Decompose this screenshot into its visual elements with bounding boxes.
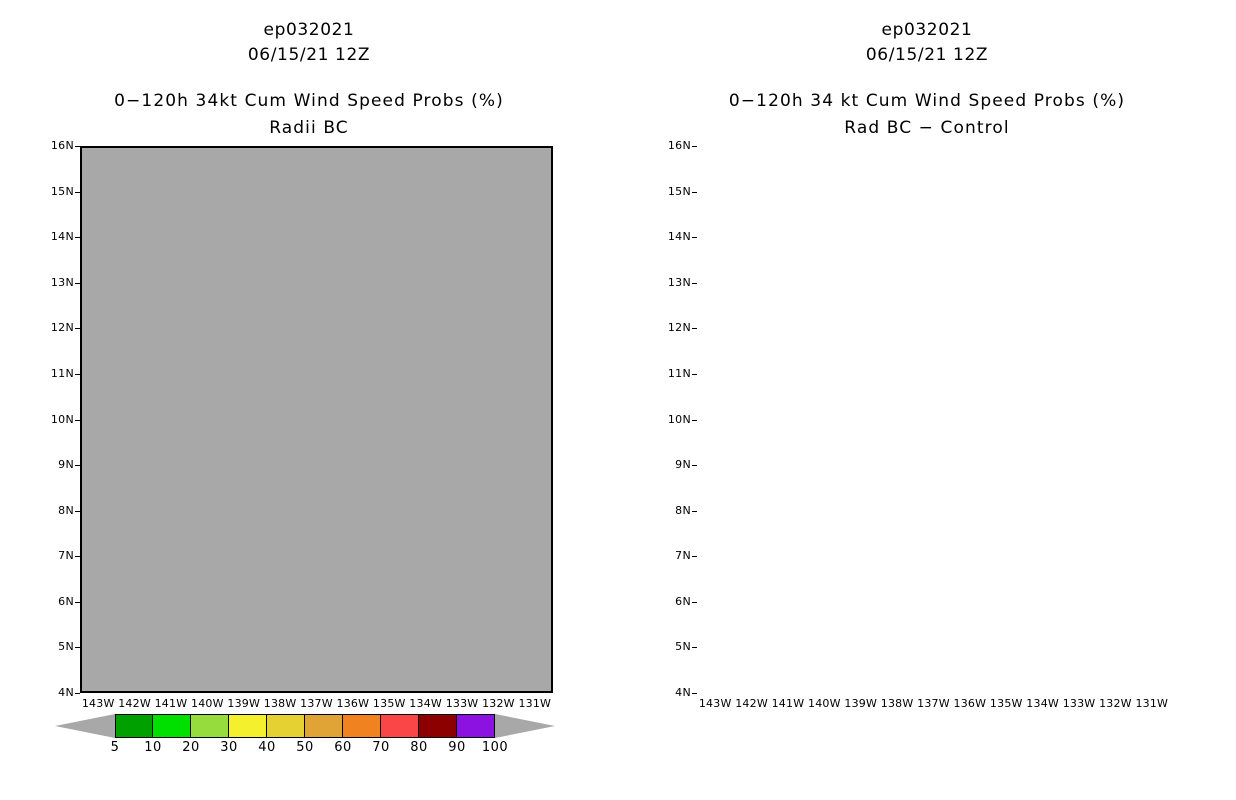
y-axis-tick-10N: 10N xyxy=(36,413,74,426)
y-axis-tick-15N: 15N xyxy=(36,185,74,198)
y-tick-mark-7N xyxy=(75,556,80,557)
right-panel-header: ep032021 06/15/21 12Z xyxy=(618,18,1236,68)
left-colorbar-segment-7[interactable] xyxy=(381,714,419,738)
y-tick-mark-6N xyxy=(692,602,697,603)
y-axis-tick-6N: 6N xyxy=(36,595,74,608)
y-tick-mark-15N xyxy=(692,192,697,193)
y-tick-mark-12N xyxy=(692,328,697,329)
y-tick-mark-14N xyxy=(692,237,697,238)
y-tick-mark-11N xyxy=(75,374,80,375)
left-colorbar-segment-6[interactable] xyxy=(343,714,381,738)
panel-right: ep032021 06/15/21 12Z 0−120h 34 kt Cum W… xyxy=(618,0,1236,800)
y-tick-mark-16N xyxy=(75,146,80,147)
y-axis-tick-14N: 14N xyxy=(36,230,74,243)
y-axis-tick-6N: 6N xyxy=(653,595,691,608)
left-plot-frame xyxy=(80,146,553,693)
right-storm-id: ep032021 xyxy=(618,18,1236,43)
y-axis-tick-13N: 13N xyxy=(653,276,691,289)
left-panel-subheader: 0−120h 34kt Cum Wind Speed Probs (%) Rad… xyxy=(0,88,618,142)
y-axis-tick-7N: 7N xyxy=(653,549,691,562)
panel-left: ep032021 06/15/21 12Z 0−120h 34kt Cum Wi… xyxy=(0,0,618,800)
y-tick-mark-7N xyxy=(692,556,697,557)
y-tick-mark-13N xyxy=(75,283,80,284)
left-colorbar-cap-high xyxy=(495,714,555,738)
y-axis-tick-12N: 12N xyxy=(36,321,74,334)
y-axis-tick-11N: 11N xyxy=(653,367,691,380)
y-axis-tick-10N: 10N xyxy=(653,413,691,426)
y-axis-tick-16N: 16N xyxy=(653,139,691,152)
y-axis-tick-9N: 9N xyxy=(36,458,74,471)
x-axis-tick-131W: 131W xyxy=(1127,697,1177,710)
y-tick-mark-4N xyxy=(75,693,80,694)
y-axis-tick-11N: 11N xyxy=(36,367,74,380)
left-colorbar-segment-5[interactable] xyxy=(305,714,343,738)
y-tick-mark-10N xyxy=(75,420,80,421)
y-axis-tick-8N: 8N xyxy=(653,504,691,517)
left-plot-gray-fill xyxy=(82,148,551,691)
y-axis-tick-12N: 12N xyxy=(653,321,691,334)
y-tick-mark-11N xyxy=(692,374,697,375)
left-chart-title: 0−120h 34kt Cum Wind Speed Probs (%) xyxy=(0,88,618,115)
y-tick-mark-14N xyxy=(75,237,80,238)
y-axis-tick-7N: 7N xyxy=(36,549,74,562)
right-chart-subtitle: Rad BC − Control xyxy=(618,115,1236,142)
y-tick-mark-6N xyxy=(75,602,80,603)
y-tick-mark-4N xyxy=(692,693,697,694)
left-datetime: 06/15/21 12Z xyxy=(0,43,618,68)
y-axis-tick-4N: 4N xyxy=(653,686,691,699)
left-colorbar-bands[interactable] xyxy=(115,714,495,738)
y-axis-tick-13N: 13N xyxy=(36,276,74,289)
y-tick-mark-9N xyxy=(75,465,80,466)
y-tick-mark-5N xyxy=(75,647,80,648)
y-tick-mark-5N xyxy=(692,647,697,648)
right-panel-subheader: 0−120h 34 kt Cum Wind Speed Probs (%) Ra… xyxy=(618,88,1236,142)
left-colorbar-tick-10: 100 xyxy=(470,740,520,755)
y-tick-mark-10N xyxy=(692,420,697,421)
y-tick-mark-8N xyxy=(692,511,697,512)
y-axis-tick-5N: 5N xyxy=(653,640,691,653)
right-chart-title: 0−120h 34 kt Cum Wind Speed Probs (%) xyxy=(618,88,1236,115)
left-colorbar-segment-1[interactable] xyxy=(153,714,191,738)
y-axis-tick-4N: 4N xyxy=(36,686,74,699)
x-axis-tick-131W: 131W xyxy=(510,697,560,710)
left-storm-id: ep032021 xyxy=(0,18,618,43)
right-datetime: 06/15/21 12Z xyxy=(618,43,1236,68)
y-axis-tick-16N: 16N xyxy=(36,139,74,152)
left-colorbar-segment-4[interactable] xyxy=(267,714,305,738)
left-plot-area xyxy=(80,146,553,693)
left-colorbar-segment-2[interactable] xyxy=(191,714,229,738)
y-tick-mark-12N xyxy=(75,328,80,329)
left-colorbar-segment-9[interactable] xyxy=(457,714,495,738)
left-panel-header: ep032021 06/15/21 12Z xyxy=(0,18,618,68)
left-colorbar: 5102030405060708090100 xyxy=(55,714,555,766)
y-axis-tick-9N: 9N xyxy=(653,458,691,471)
left-colorbar-segment-3[interactable] xyxy=(229,714,267,738)
y-tick-mark-13N xyxy=(692,283,697,284)
y-tick-mark-15N xyxy=(75,192,80,193)
y-axis-tick-5N: 5N xyxy=(36,640,74,653)
left-colorbar-segment-8[interactable] xyxy=(419,714,457,738)
y-tick-mark-9N xyxy=(692,465,697,466)
y-tick-mark-8N xyxy=(75,511,80,512)
left-colorbar-cap-low xyxy=(55,714,115,738)
left-colorbar-segment-0[interactable] xyxy=(115,714,153,738)
y-axis-tick-15N: 15N xyxy=(653,185,691,198)
y-tick-mark-16N xyxy=(692,146,697,147)
y-axis-tick-8N: 8N xyxy=(36,504,74,517)
y-axis-tick-14N: 14N xyxy=(653,230,691,243)
left-chart-subtitle: Radii BC xyxy=(0,115,618,142)
